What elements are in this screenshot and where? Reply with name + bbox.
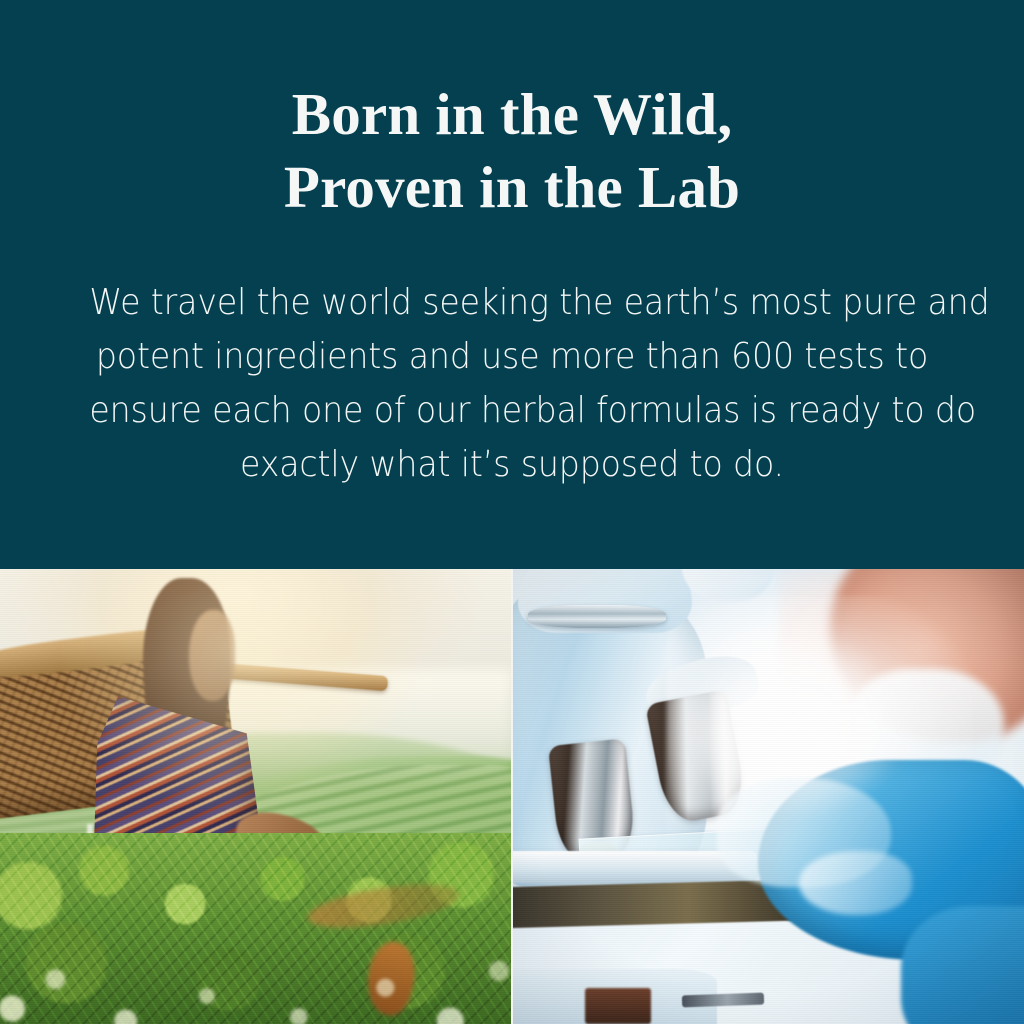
copy-panel: Born in the Wild, Proven in the Lab We t… <box>0 0 1024 569</box>
glove-thumb <box>799 851 911 915</box>
sun-bokeh <box>0 833 511 1024</box>
subcopy-line-2: potent ingredients and use more than 600… <box>89 330 934 384</box>
headline-line-1: Born in the Wild, <box>0 78 1024 151</box>
hero-banner: Born in the Wild, Proven in the Lab We t… <box>0 0 1024 1024</box>
harvester-face <box>189 610 235 701</box>
subcopy-line-3: ensure each one of our herbal formulas i… <box>89 384 934 438</box>
subcopy-line-4: exactly what it’s supposed to do. <box>89 438 934 492</box>
photo-strip <box>0 569 1024 1024</box>
lab-microscope-photo <box>513 569 1024 1024</box>
tea-harvest-photo <box>0 569 511 1024</box>
focus-ring <box>528 605 666 628</box>
base-detail <box>585 988 651 1024</box>
headline-line-2: Proven in the Lab <box>0 151 1024 224</box>
page-title: Born in the Wild, Proven in the Lab <box>0 78 1024 224</box>
subcopy-line-1: We travel the world seeking the earth’s … <box>89 276 934 330</box>
subcopy-paragraph: We travel the world seeking the earth’s … <box>89 276 934 492</box>
